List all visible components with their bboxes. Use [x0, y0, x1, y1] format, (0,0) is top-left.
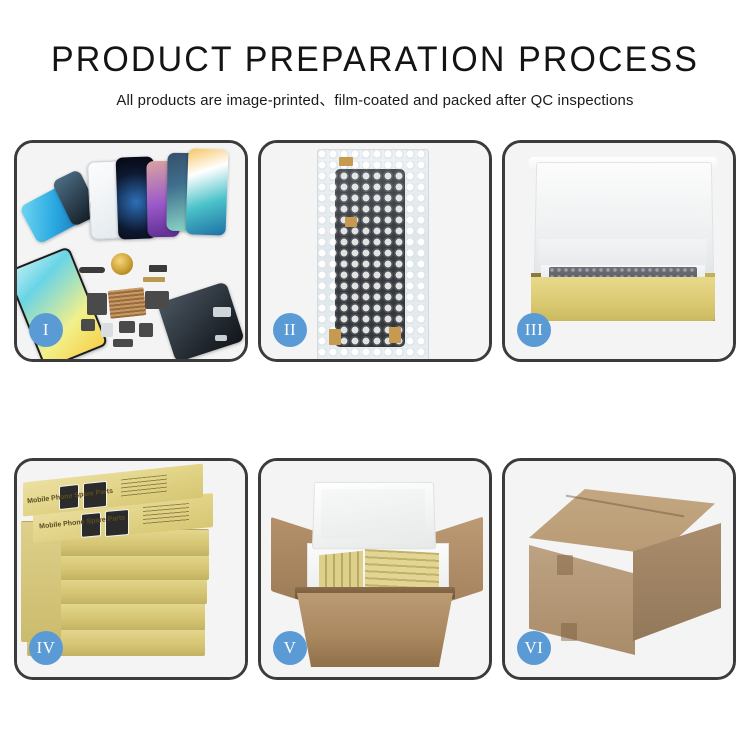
page-title: PRODUCT PREPARATION PROCESS: [11, 0, 739, 78]
process-step-panel-5: V: [258, 458, 492, 680]
process-step-panel-4: Mobile Phone Spare Parts Mobile Phone Sp…: [14, 458, 248, 680]
process-step-panel-2: II: [258, 140, 492, 362]
yellow-box-front: [531, 277, 715, 321]
teal-display-phone: [186, 148, 229, 235]
logic-board-part: [108, 287, 147, 319]
button-part-a: [81, 319, 95, 331]
step-badge-3: III: [517, 313, 551, 347]
process-step-grid: I II III: [14, 140, 736, 680]
step-badge-6: VI: [517, 631, 551, 665]
gold-flex-part: [143, 277, 165, 282]
sim-tray-part: [101, 323, 113, 337]
carton-tape-lower: [561, 623, 577, 641]
small-connector-part: [149, 265, 167, 272]
screw-part: [215, 335, 227, 341]
step-badge-4: IV: [29, 631, 63, 665]
step-badge-5: V: [273, 631, 307, 665]
carton-tape-upper: [557, 555, 573, 575]
process-step-panel-1: I: [14, 140, 248, 362]
page-subtitle: All products are image-printed、film-coat…: [8, 78, 743, 110]
process-step-panel-6: VI: [502, 458, 736, 680]
tape-tab-bottom-left: [329, 329, 341, 345]
flex-cable-part-b: [145, 291, 169, 309]
camera-module-part: [139, 323, 153, 337]
carton-body: [297, 593, 453, 667]
phone-back-housing: [157, 281, 245, 362]
step-badge-1: I: [29, 313, 63, 347]
foam-lid-inner: [321, 489, 425, 539]
camera-lens-part: [111, 253, 133, 275]
antenna-part: [113, 339, 133, 347]
speaker-part: [79, 267, 105, 273]
process-step-panel-3: III: [502, 140, 736, 362]
step-badge-2: II: [273, 313, 307, 347]
tape-tab-mid: [345, 217, 357, 227]
page-header: PRODUCT PREPARATION PROCESS All products…: [0, 0, 750, 110]
button-part-b: [119, 321, 135, 333]
flex-cable-part-a: [87, 293, 107, 315]
wrapped-screen-assembly: [335, 169, 405, 347]
tape-tab-bottom-right: [389, 327, 401, 343]
tool-part: [213, 307, 231, 317]
tape-tab-top: [339, 157, 353, 166]
